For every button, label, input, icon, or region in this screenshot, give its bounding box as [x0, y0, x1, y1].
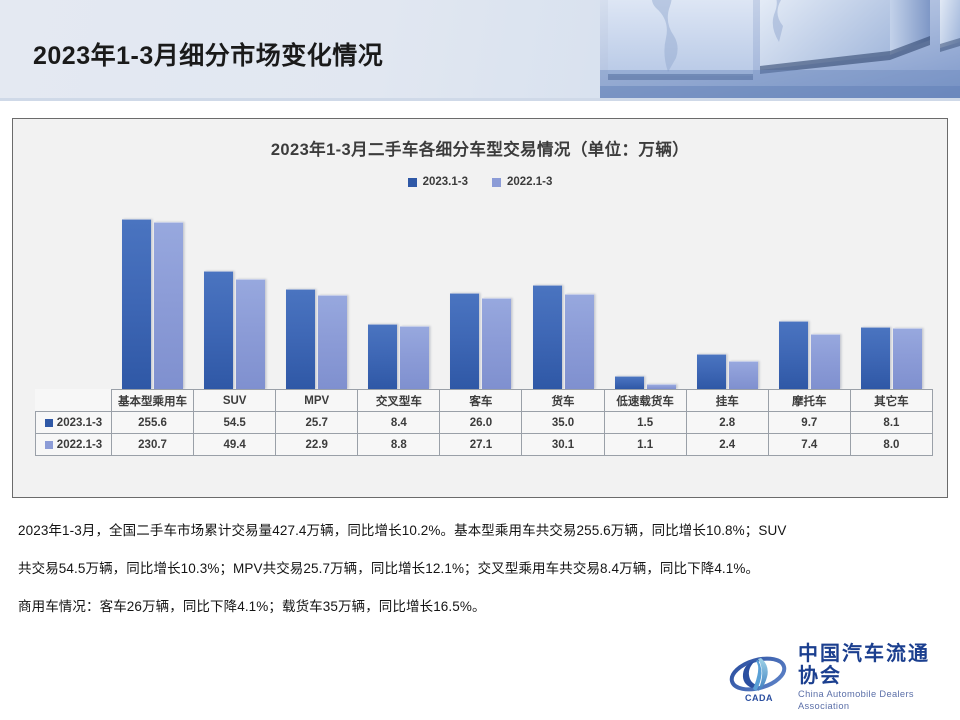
legend-label-2022: 2022.1-3 [507, 176, 552, 188]
bar-group [193, 197, 275, 389]
legend-swatch-2022 [492, 178, 501, 187]
logo-name-cn: 中国汽车流通协会 [798, 643, 946, 687]
bar-2022[interactable] [893, 328, 922, 389]
bar-2023[interactable] [122, 219, 151, 389]
bar-groups-container [111, 197, 933, 389]
bar-2022[interactable] [400, 326, 429, 389]
bar-2023[interactable] [861, 327, 890, 389]
table-col-header: 基本型乘用车 [112, 390, 194, 412]
bar-2023[interactable] [533, 285, 562, 389]
table-cell: 22.9 [276, 434, 358, 456]
bar-2022[interactable] [236, 279, 265, 389]
logo-text-block: 中国汽车流通协会 China Automobile Dealers Associ… [798, 643, 946, 712]
bar-group [604, 197, 686, 389]
table-cell: 25.7 [276, 412, 358, 434]
logo-name-en: China Automobile Dealers Association [798, 689, 946, 712]
header-divider [0, 98, 960, 101]
legend-swatch-2023 [408, 178, 417, 187]
legend-label-2023: 2023.1-3 [423, 176, 468, 188]
chart-panel: 2023年1-3月二手车各细分车型交易情况（单位：万辆） 2023.1-3 20… [12, 118, 948, 498]
table-cell: 9.7 [768, 412, 850, 434]
bar-group [522, 197, 604, 389]
table-cell: 54.5 [194, 412, 276, 434]
svg-text:CADA: CADA [745, 693, 773, 703]
table-col-header: 挂车 [686, 390, 768, 412]
legend-item-2023[interactable]: 2023.1-3 [408, 176, 468, 188]
blue-cubes-world-map-icon [600, 0, 960, 98]
paragraph-line-3: 商用车情况：客车26万辆，同比下降4.1%；载货车35万辆，同比增长16.5%。 [18, 588, 942, 626]
bar-2022[interactable] [729, 361, 758, 389]
bar-2023[interactable] [368, 324, 397, 389]
table-row-label: 2022.1-3 [36, 434, 112, 456]
table-row: 2023.1-3255.654.525.78.426.035.01.52.89.… [36, 412, 933, 434]
table-cell: 1.1 [604, 434, 686, 456]
bar-group [440, 197, 522, 389]
bar-group [686, 197, 768, 389]
bar-2023[interactable] [286, 289, 315, 389]
chart-title: 2023年1-3月二手车各细分车型交易情况（单位：万辆） [13, 136, 947, 160]
bar-chart-plot-area [13, 197, 949, 389]
bar-2023[interactable] [615, 376, 644, 389]
paragraph-line-2: 共交易54.5万辆，同比增长10.3%；MPV共交易25.7万辆，同比增长12.… [18, 550, 942, 588]
table-cell: 30.1 [522, 434, 604, 456]
bar-2022[interactable] [811, 334, 840, 389]
table-col-header: 货车 [522, 390, 604, 412]
table-cell: 230.7 [112, 434, 194, 456]
table-cell: 26.0 [440, 412, 522, 434]
page-title: 2023年1-3月细分市场变化情况 [33, 36, 383, 72]
row-legend-swatch [45, 419, 53, 427]
row-legend-swatch [45, 441, 53, 449]
paragraph-line-1: 2023年1-3月，全国二手车市场累计交易量427.4万辆，同比增长10.2%。… [18, 512, 942, 550]
bar-2023[interactable] [450, 293, 479, 389]
chart-legend: 2023.1-3 2022.1-3 [13, 176, 947, 188]
table-cell: 255.6 [112, 412, 194, 434]
table-cell: 2.4 [686, 434, 768, 456]
bar-2023[interactable] [204, 271, 233, 389]
table-cell: 27.1 [440, 434, 522, 456]
chart-data-table: 基本型乘用车 SUV MPV 交叉型车 客车 货车 低速载货车 挂车 摩托车 其… [35, 389, 933, 456]
bar-2022[interactable] [154, 222, 183, 389]
table-cell: 8.0 [850, 434, 932, 456]
cada-logo-icon: CADA [728, 652, 790, 704]
header-banner: 2023年1-3月细分市场变化情况 [0, 0, 960, 98]
bar-2022[interactable] [565, 294, 594, 389]
table-cell: 1.5 [604, 412, 686, 434]
table-col-header: MPV [276, 390, 358, 412]
slide-page: 2023年1-3月细分市场变化情况 2023年1-3月二手车各细分车型交易情况（… [0, 0, 960, 720]
table-cell: 7.4 [768, 434, 850, 456]
table-row: 2022.1-3230.749.422.98.827.130.11.12.47.… [36, 434, 933, 456]
table-cell: 8.4 [358, 412, 440, 434]
table-row-label: 2023.1-3 [36, 412, 112, 434]
bar-2022[interactable] [318, 295, 347, 389]
table-header-row: 基本型乘用车 SUV MPV 交叉型车 客车 货车 低速载货车 挂车 摩托车 其… [36, 390, 933, 412]
table-cell: 35.0 [522, 412, 604, 434]
table-corner-cell [36, 390, 112, 412]
bar-2023[interactable] [697, 354, 726, 389]
table-cell: 49.4 [194, 434, 276, 456]
table-cell: 2.8 [686, 412, 768, 434]
footer-logo: CADA 中国汽车流通协会 China Automobile Dealers A… [728, 650, 946, 706]
table-col-header: 客车 [440, 390, 522, 412]
bar-group [358, 197, 440, 389]
bar-2023[interactable] [779, 321, 808, 389]
bar-group [275, 197, 357, 389]
legend-item-2022[interactable]: 2022.1-3 [492, 176, 552, 188]
table-cell: 8.8 [358, 434, 440, 456]
table-col-header: 低速载货车 [604, 390, 686, 412]
bar-2022[interactable] [482, 298, 511, 389]
bar-group [111, 197, 193, 389]
table-col-header: 交叉型车 [358, 390, 440, 412]
header-decoration-image [600, 0, 960, 98]
bar-group [851, 197, 933, 389]
table-col-header: 摩托车 [768, 390, 850, 412]
table-col-header: 其它车 [850, 390, 932, 412]
bar-group [769, 197, 851, 389]
body-text-block: 2023年1-3月，全国二手车市场累计交易量427.4万辆，同比增长10.2%。… [18, 512, 942, 626]
table-col-header: SUV [194, 390, 276, 412]
table-cell: 8.1 [850, 412, 932, 434]
